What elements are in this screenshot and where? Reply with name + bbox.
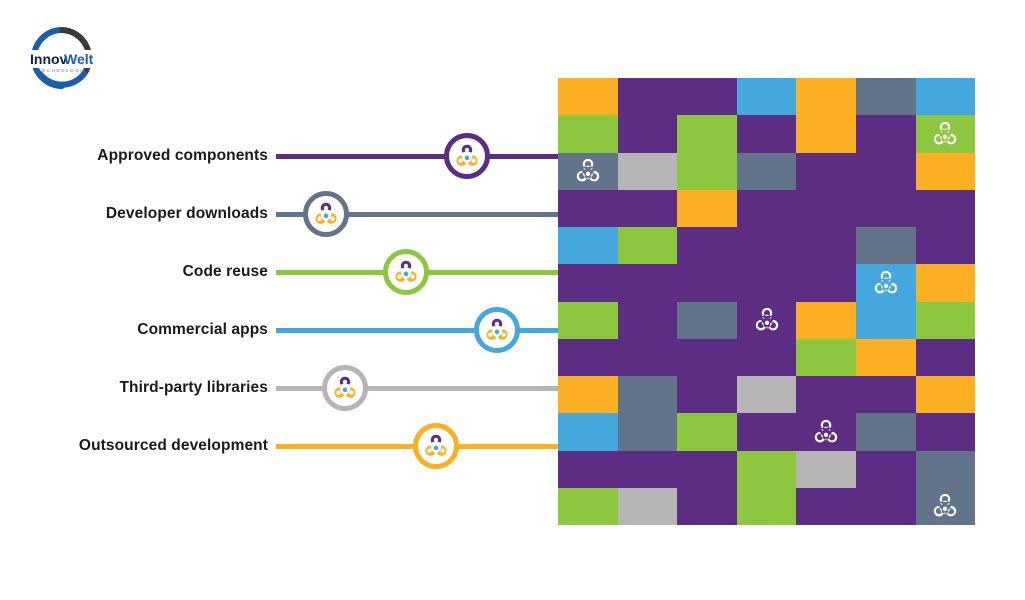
heatmap-cell[interactable] — [618, 153, 678, 190]
legend-item-0[interactable]: Approved components — [0, 136, 560, 176]
biohazard-icon — [930, 491, 960, 521]
heatmap-cell[interactable] — [737, 302, 797, 339]
heatmap-cell[interactable] — [618, 264, 678, 301]
heatmap-cell[interactable] — [737, 78, 797, 115]
heatmap-cell[interactable] — [677, 190, 737, 227]
legend-biohazard-marker[interactable] — [444, 133, 490, 179]
heatmap-cell[interactable] — [796, 413, 856, 450]
heatmap-cell[interactable] — [737, 488, 797, 525]
heatmap-cell[interactable] — [618, 190, 678, 227]
legend-connector-line — [276, 386, 560, 391]
heatmap-cell[interactable] — [916, 190, 976, 227]
heatmap-cell[interactable] — [916, 227, 976, 264]
biohazard-icon — [311, 199, 341, 229]
heatmap-cell[interactable] — [737, 339, 797, 376]
heatmap-cell[interactable] — [737, 227, 797, 264]
heatmap-cell[interactable] — [916, 376, 976, 413]
heatmap-cell[interactable] — [618, 488, 678, 525]
heatmap-cell[interactable] — [677, 413, 737, 450]
heatmap-cell[interactable] — [856, 78, 916, 115]
heatmap-cell[interactable] — [916, 302, 976, 339]
legend-item-label: Third-party libraries — [119, 379, 268, 397]
biohazard-icon — [452, 141, 482, 171]
heatmap-cell[interactable] — [856, 488, 916, 525]
heatmap-cell[interactable] — [856, 153, 916, 190]
legend-connector-line — [276, 154, 560, 159]
heatmap-cell[interactable] — [856, 115, 916, 152]
heatmap-cell[interactable] — [558, 451, 618, 488]
heatmap-cell[interactable] — [677, 78, 737, 115]
heatmap-cell[interactable] — [916, 264, 976, 301]
heatmap-cell[interactable] — [737, 153, 797, 190]
legend-item-label: Code reuse — [183, 263, 268, 281]
heatmap-cell[interactable] — [677, 153, 737, 190]
heatmap-cell[interactable] — [856, 302, 916, 339]
biohazard-icon — [573, 156, 603, 186]
heatmap-cell[interactable] — [618, 451, 678, 488]
innovwelt-circle-logo: Innov Welt TECHNOLOGIES — [22, 22, 102, 94]
heatmap-cell[interactable] — [558, 264, 618, 301]
biohazard-icon — [871, 268, 901, 298]
heatmap-cell[interactable] — [916, 488, 976, 525]
heatmap-cell[interactable] — [856, 339, 916, 376]
legend-biohazard-marker[interactable] — [413, 423, 459, 469]
risk-heatmap-grid — [558, 78, 975, 525]
heatmap-cell[interactable] — [856, 264, 916, 301]
biohazard-icon — [871, 268, 901, 298]
biohazard-icon — [421, 431, 451, 461]
heatmap-cell[interactable] — [677, 227, 737, 264]
heatmap-cell[interactable] — [737, 115, 797, 152]
biohazard-icon — [930, 119, 960, 149]
heatmap-cell[interactable] — [618, 302, 678, 339]
biohazard-icon — [330, 373, 360, 403]
heatmap-cell[interactable] — [796, 339, 856, 376]
heatmap-cell[interactable] — [796, 451, 856, 488]
logo-tagline: TECHNOLOGIES — [38, 68, 92, 73]
heatmap-cell[interactable] — [916, 115, 976, 152]
heatmap-cell[interactable] — [558, 339, 618, 376]
heatmap-cell[interactable] — [796, 153, 856, 190]
biohazard-icon — [482, 315, 512, 345]
legend-item-3[interactable]: Commercial apps — [0, 310, 560, 350]
legend-item-label: Outsourced development — [79, 437, 268, 455]
heatmap-cell[interactable] — [558, 488, 618, 525]
biohazard-icon — [391, 257, 421, 287]
legend-item-4[interactable]: Third-party libraries — [0, 368, 560, 408]
heatmap-cell[interactable] — [737, 264, 797, 301]
heatmap-cell[interactable] — [558, 190, 618, 227]
heatmap-cell[interactable] — [796, 78, 856, 115]
heatmap-cell[interactable] — [558, 115, 618, 152]
heatmap-cell[interactable] — [677, 302, 737, 339]
heatmap-cell[interactable] — [856, 376, 916, 413]
heatmap-cell[interactable] — [677, 488, 737, 525]
legend-item-label: Approved components — [97, 147, 268, 165]
biohazard-icon — [752, 305, 782, 335]
heatmap-cell[interactable] — [916, 339, 976, 376]
legend-biohazard-marker[interactable] — [474, 307, 520, 353]
heatmap-cell[interactable] — [856, 413, 916, 450]
heatmap-cell[interactable] — [916, 153, 976, 190]
heatmap-cell[interactable] — [558, 153, 618, 190]
heatmap-cell[interactable] — [558, 78, 618, 115]
legend-item-2[interactable]: Code reuse — [0, 252, 560, 292]
heatmap-cell[interactable] — [558, 302, 618, 339]
heatmap-cell[interactable] — [856, 227, 916, 264]
heatmap-cell[interactable] — [618, 115, 678, 152]
heatmap-cell[interactable] — [677, 264, 737, 301]
heatmap-cell[interactable] — [558, 376, 618, 413]
heatmap-cell[interactable] — [856, 190, 916, 227]
legend-item-1[interactable]: Developer downloads — [0, 194, 560, 234]
infographic-canvas: Innov Welt TECHNOLOGIES Approved compone… — [0, 0, 1025, 600]
heatmap-cell[interactable] — [618, 78, 678, 115]
heatmap-cell[interactable] — [618, 339, 678, 376]
innovwelt-logo: Innov Welt TECHNOLOGIES — [22, 22, 102, 94]
biohazard-icon — [930, 119, 960, 149]
heatmap-cell[interactable] — [737, 413, 797, 450]
heatmap-cell[interactable] — [618, 376, 678, 413]
heatmap-cell[interactable] — [796, 227, 856, 264]
biohazard-icon — [752, 305, 782, 335]
heatmap-cell[interactable] — [618, 227, 678, 264]
heatmap-cell[interactable] — [737, 190, 797, 227]
heatmap-cell[interactable] — [856, 451, 916, 488]
biohazard-icon — [930, 491, 960, 521]
legend-item-label: Developer downloads — [106, 205, 268, 223]
heatmap-cell[interactable] — [916, 413, 976, 450]
heatmap-cell[interactable] — [558, 227, 618, 264]
heatmap-cell[interactable] — [558, 413, 618, 450]
heatmap-cell[interactable] — [618, 413, 678, 450]
legend-biohazard-marker[interactable] — [383, 249, 429, 295]
biohazard-icon — [811, 417, 841, 447]
heatmap-cell[interactable] — [916, 451, 976, 488]
heatmap-cell[interactable] — [677, 115, 737, 152]
logo-name-part1: Innov — [30, 51, 68, 67]
legend-item-label: Commercial apps — [137, 321, 268, 339]
heatmap-cell[interactable] — [677, 451, 737, 488]
heatmap-cell[interactable] — [677, 339, 737, 376]
heatmap-cell[interactable] — [796, 376, 856, 413]
heatmap-cell[interactable] — [916, 78, 976, 115]
heatmap-cell[interactable] — [796, 302, 856, 339]
heatmap-cell[interactable] — [796, 190, 856, 227]
heatmap-cell[interactable] — [737, 451, 797, 488]
legend-item-5[interactable]: Outsourced development — [0, 426, 560, 466]
heatmap-cell[interactable] — [796, 264, 856, 301]
legend-biohazard-marker[interactable] — [303, 191, 349, 237]
heatmap-cell[interactable] — [737, 376, 797, 413]
biohazard-icon — [811, 417, 841, 447]
heatmap-cell[interactable] — [796, 488, 856, 525]
heatmap-cell[interactable] — [677, 376, 737, 413]
logo-name-part2: Welt — [64, 51, 94, 67]
biohazard-icon — [573, 156, 603, 186]
heatmap-cell[interactable] — [796, 115, 856, 152]
legend-biohazard-marker[interactable] — [322, 365, 368, 411]
